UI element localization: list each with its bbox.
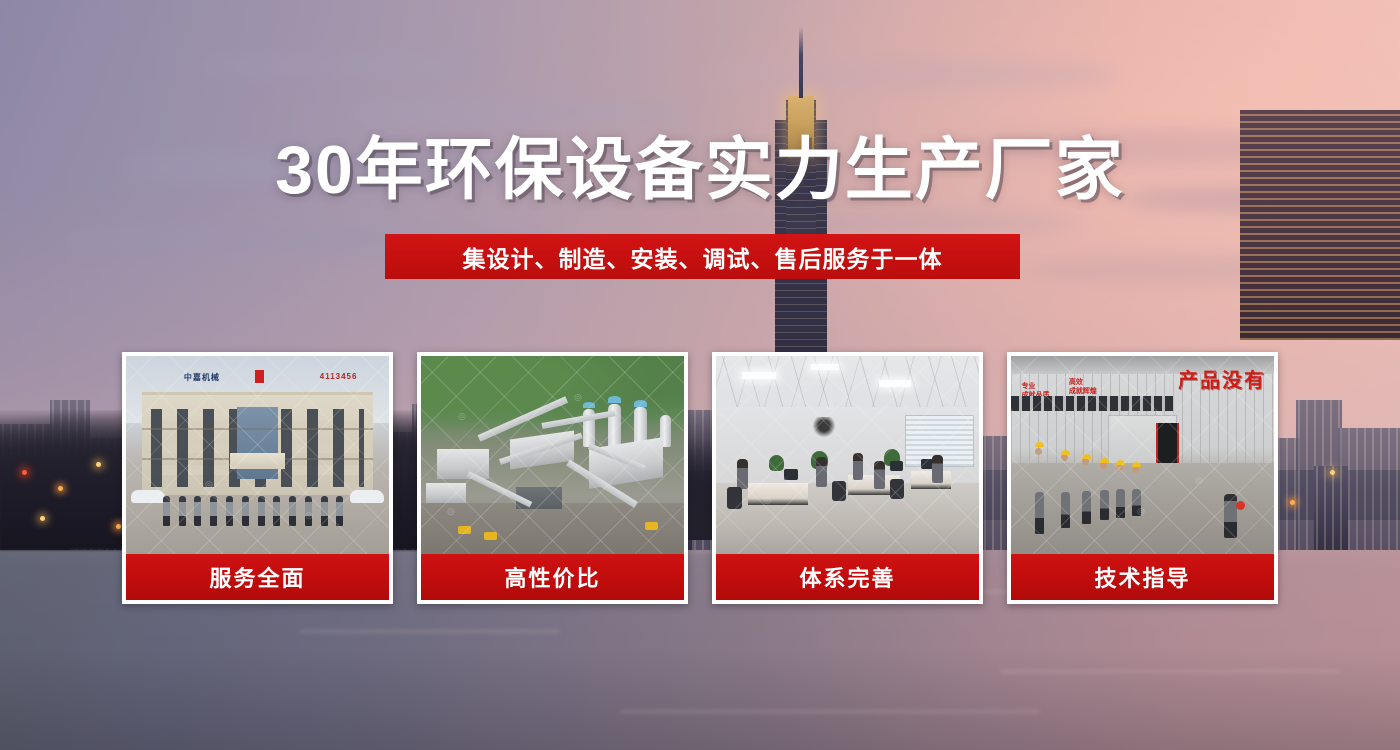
water-reflection [300,630,560,633]
flag-icon [255,370,264,383]
card-label-text: 体系完善 [799,561,895,593]
tower-spire [799,26,803,98]
feature-card-system[interactable]: ◎ ◎ ◎ 体系完善 [712,352,983,604]
building-phone-text: 4113456 [320,372,358,381]
aerial-plant-photo: ◎ ◎ ◎ [421,356,684,554]
card-label-text: 技术指导 [1094,561,1190,593]
office-interior-photo: ◎ ◎ ◎ [716,356,979,554]
card-label-text: 高性价比 [504,561,600,593]
shore-light [58,486,63,491]
factory-workers-photo: 产品没有 专业成就品质 高效成就辉煌 [1011,356,1274,554]
shore-light [40,516,45,521]
card-label-banner: 高性价比 [421,554,684,600]
shore-light [1330,470,1335,475]
cloud [340,100,680,126]
shore-light [96,462,101,467]
feature-card-guidance[interactable]: 产品没有 专业成就品质 高效成就辉煌 [1007,352,1278,604]
subtitle-banner: 集设计、制造、安装、调试、售后服务于一体 [385,234,1020,279]
shore-light [22,470,27,475]
building-sign-text: 中嘉机械 [184,372,220,383]
water-reflection [620,710,1040,713]
factory-sign-text: 产品没有 [1178,364,1266,393]
card-label-banner: 体系完善 [716,554,979,600]
water-reflection [1000,670,1340,673]
banner-headline: 30年环保设备实力生产厂家 [0,131,1400,209]
supervisor-figure [1224,494,1237,538]
company-headquarters-photo: 中嘉机械 4113456 ◎ ◎ [126,356,389,554]
promo-banner: 30年环保设备实力生产厂家 集设计、制造、安装、调试、售后服务于一体 中嘉机械 … [0,0,1400,750]
cloud [620,210,1080,236]
card-label-text: 服务全面 [209,561,305,593]
feature-card-row: 中嘉机械 4113456 ◎ ◎ [122,352,1278,604]
cloud [200,55,500,75]
wall-logo [811,417,837,439]
card-label-banner: 服务全面 [126,554,389,600]
feature-card-value[interactable]: ◎ ◎ ◎ 高性价比 [417,352,688,604]
shore-light [1290,500,1295,505]
card-label-banner: 技术指导 [1011,554,1274,600]
subtitle-text: 集设计、制造、安装、调试、售后服务于一体 [463,240,943,274]
shore-light [116,524,121,529]
feature-card-service[interactable]: 中嘉机械 4113456 ◎ ◎ [122,352,393,604]
cloud [700,60,1120,90]
